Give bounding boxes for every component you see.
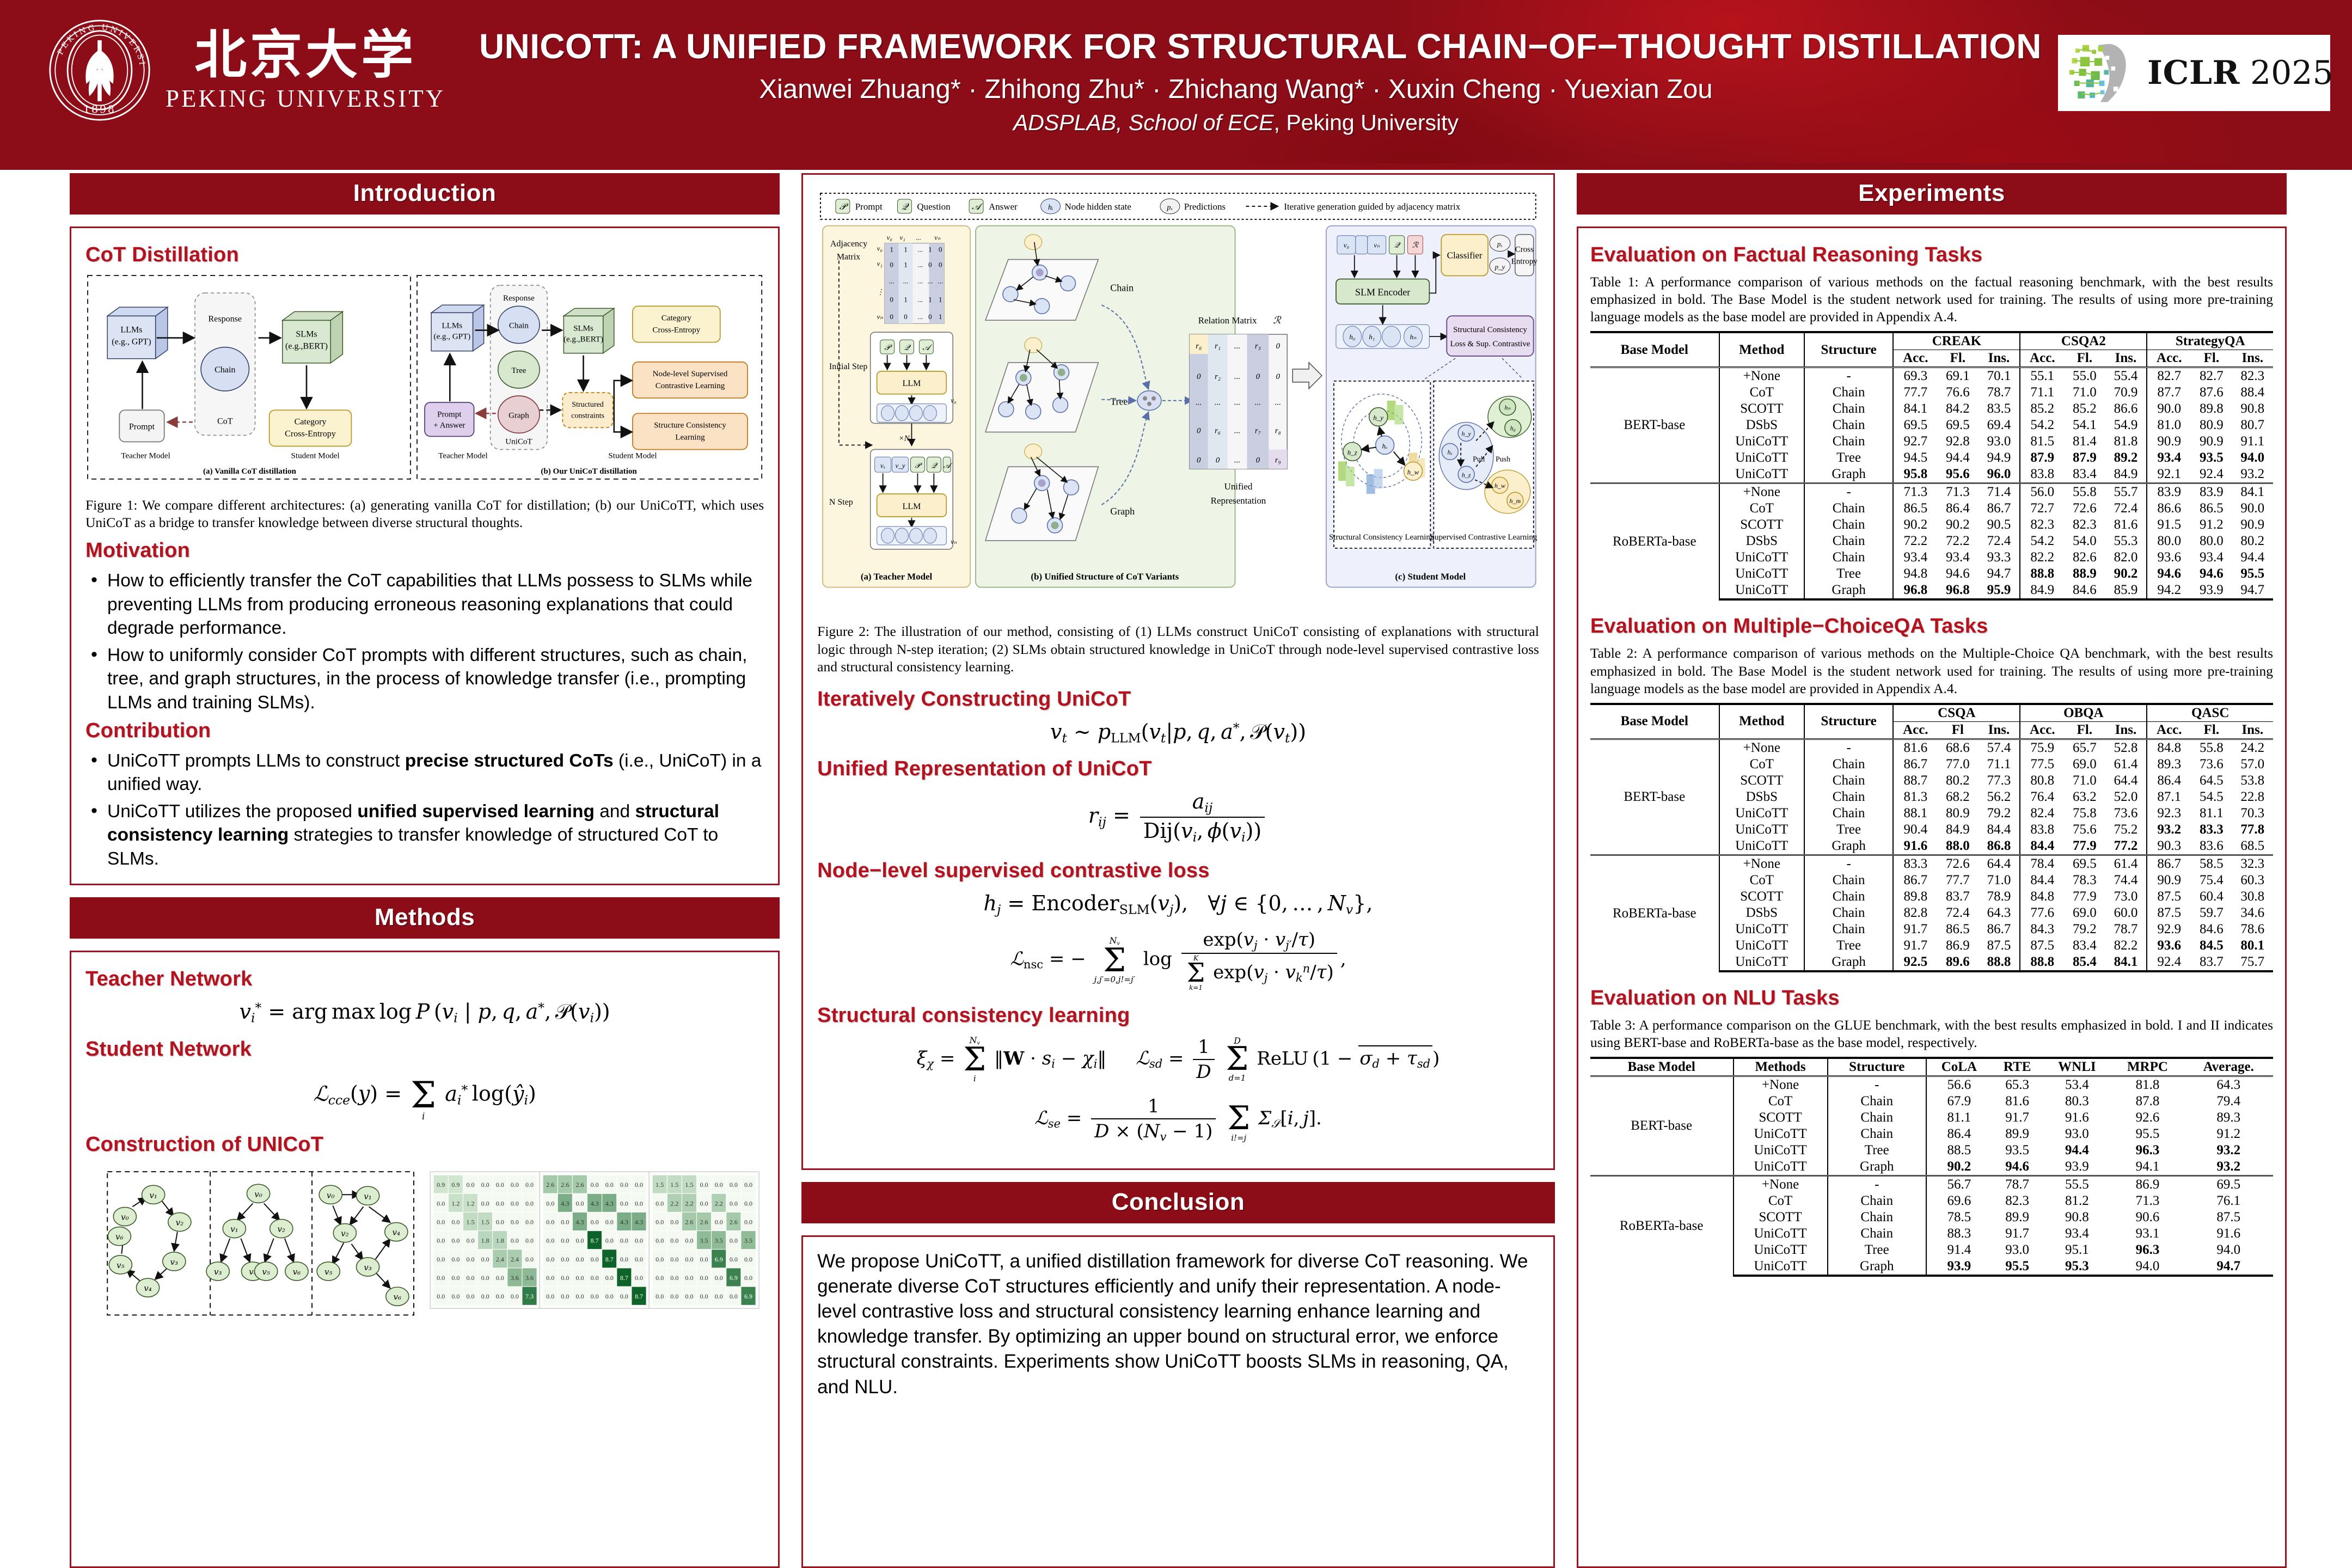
cell-value: 94.0 [2111, 1258, 2184, 1276]
cell-value: 82.6 [2064, 549, 2105, 566]
cell-value: 85.2 [2020, 401, 2064, 417]
cell-method: SCOTT [1719, 517, 1804, 533]
svg-text:Learning: Learning [675, 433, 705, 442]
cell-value: 93.4 [1937, 549, 1978, 566]
cell-method: SCOTT [1734, 1209, 1828, 1226]
figure-1-caption: Figure 1: We compare different architect… [85, 497, 764, 531]
svg-text:+ Answer: + Answer [433, 421, 465, 430]
cell-structure: Chain [1804, 789, 1894, 805]
cell-value: 92.5 [1893, 954, 1937, 971]
cell-value: 71.4 [1979, 483, 2020, 501]
cell-value: 72.2 [1937, 533, 1978, 549]
svg-text:0.0: 0.0 [451, 1274, 460, 1282]
cell-value: 55.4 [2105, 367, 2147, 385]
cell-method: CoT [1719, 384, 1804, 401]
cell-value: 92.1 [2147, 466, 2191, 483]
svg-text:Structural Consistency Learnin: Structural Consistency Learning [1329, 533, 1435, 542]
cell-value: 95.5 [2111, 1126, 2184, 1142]
cell-value: 57.0 [2232, 756, 2273, 773]
svg-text:0.0: 0.0 [525, 1237, 534, 1245]
col-structure: Structure [1804, 704, 1894, 739]
svg-text:v₃: v₃ [170, 1257, 179, 1267]
cell-method: CoT [1734, 1093, 1828, 1110]
svg-text:hᵢ: hᵢ [1048, 204, 1053, 212]
svg-text:h_m: h_m [1510, 497, 1521, 505]
col-method: Method [1719, 704, 1804, 739]
svg-text:1.5: 1.5 [670, 1181, 678, 1189]
cell-value: 71.1 [2020, 384, 2064, 401]
table-row: RoBERTa-base+None-71.371.371.456.055.855… [1590, 483, 2273, 501]
title-block: UNICOTT: A UNIFIED FRAMEWORK FOR STRUCTU… [479, 26, 1993, 136]
svg-text:4.3: 4.3 [561, 1200, 569, 1208]
svg-text:Question: Question [917, 201, 951, 212]
svg-text:N Step: N Step [829, 498, 853, 507]
svg-text:h_w: h_w [1494, 482, 1505, 489]
cell-value: 94.4 [1937, 450, 1978, 466]
cell-structure: Chain [1828, 1209, 1926, 1226]
cell-value: 88.9 [2064, 566, 2105, 582]
cell-structure: Graph [1828, 1159, 1926, 1176]
svg-text:0: 0 [1276, 372, 1281, 381]
cell-method: UniCoTT [1719, 549, 1804, 566]
svg-text:UniCoT: UniCoT [505, 438, 532, 446]
table-header-row: Base ModelMethodStructureCREAKCSQA2Strat… [1590, 332, 2273, 350]
cell-value: 56.2 [1979, 789, 2020, 805]
cell-value: 94.1 [2111, 1159, 2184, 1176]
cell-value: 96.0 [1979, 466, 2020, 483]
column-middle: 𝒫 Prompt 𝒬 Question 𝒜 Answer hᵢ Node hid… [801, 173, 1555, 1568]
cell-structure: Chain [1804, 549, 1894, 566]
svg-text:...: ... [938, 277, 944, 285]
svg-text:0: 0 [890, 295, 893, 303]
cell-value: 76.6 [1937, 384, 1978, 401]
svg-text:Graph: Graph [1110, 506, 1135, 517]
svg-text:2.6: 2.6 [700, 1218, 708, 1226]
svg-text:...: ... [1234, 399, 1240, 407]
cell-value: 69.6 [1926, 1193, 1992, 1209]
svg-text:(e.g.,BERT): (e.g.,BERT) [563, 335, 603, 344]
cell-value: 88.3 [1926, 1226, 1992, 1242]
col-header: WNLI [2043, 1058, 2111, 1076]
cell-value: 81.4 [2064, 433, 2105, 450]
svg-text:0.0: 0.0 [620, 1237, 628, 1245]
cell-value: 84.1 [2105, 954, 2147, 971]
col-group-csqa: CSQA [1893, 704, 2020, 722]
cell-value: 81.8 [2105, 433, 2147, 450]
svg-text:v₂: v₂ [278, 1224, 286, 1234]
cell-value: 76.4 [2020, 789, 2064, 805]
col-header: Structure [1828, 1058, 1926, 1076]
cell-value: 94.4 [2232, 549, 2273, 566]
cell-value: 88.0 [1937, 838, 1978, 855]
cell-structure: Chain [1804, 417, 1894, 433]
svg-text:h_y: h_y [1462, 430, 1472, 438]
svg-text:0.0: 0.0 [591, 1218, 599, 1226]
svg-text:...: ... [1215, 399, 1221, 407]
svg-text:0.0: 0.0 [670, 1218, 678, 1226]
cell-value: 83.4 [2064, 466, 2105, 483]
cell-value: 78.7 [2105, 921, 2147, 938]
cell-value: 90.3 [2147, 838, 2191, 855]
cell-value: 93.5 [2191, 450, 2232, 466]
col-metric: Acc. [1893, 350, 1937, 367]
cell-value: 93.6 [2147, 938, 2191, 954]
cell-method: CoT [1719, 872, 1804, 889]
svg-text:3.5: 3.5 [744, 1237, 752, 1245]
cell-structure: Chain [1804, 517, 1894, 533]
figure-2-caption: Figure 2: The illustration of our method… [817, 623, 1539, 675]
cell-method: DSbS [1719, 905, 1804, 921]
cell-value: 81.6 [2105, 517, 2147, 533]
heading-multiple-choice-qa: Evaluation on Multiple−ChoiceQA Tasks [1590, 615, 2273, 638]
formula-encoder: hj = EncoderSLM(vj), ∀j ∈ {0, … , Nv}, [817, 891, 1539, 917]
svg-text:0.0: 0.0 [561, 1218, 569, 1226]
cell-method: +None [1734, 1176, 1828, 1193]
cell-value: 71.3 [1893, 483, 1937, 501]
svg-text:0.0: 0.0 [575, 1274, 584, 1282]
svg-text:Node hidden state: Node hidden state [1065, 201, 1131, 212]
svg-text:0.0: 0.0 [685, 1274, 693, 1282]
cell-value: 94.6 [1937, 566, 1978, 582]
table-2-caption: Table 2: A performance comparison of var… [1590, 645, 2273, 697]
cell-value: 93.4 [1893, 549, 1937, 566]
cell-value: 89.2 [2105, 450, 2147, 466]
svg-text:h_z: h_z [1347, 448, 1357, 456]
col-metric: Acc. [2020, 350, 2064, 367]
svg-text:0.0: 0.0 [546, 1255, 554, 1263]
cell-value: 88.8 [1979, 954, 2020, 971]
svg-text:LLMs: LLMs [120, 326, 142, 335]
cell-value: 89.9 [1992, 1126, 2043, 1142]
col-metric: Fl. [2191, 721, 2232, 739]
svg-text:0.0: 0.0 [635, 1255, 643, 1263]
cell-value: 87.5 [1979, 938, 2020, 954]
cell-value: 83.7 [1937, 889, 1978, 905]
cell-value: 77.2 [2105, 838, 2147, 855]
svg-text:Prompt: Prompt [437, 410, 462, 419]
cell-value: 87.5 [2147, 889, 2191, 905]
svg-text:0.0: 0.0 [546, 1218, 554, 1226]
cell-value: 96.3 [2111, 1142, 2184, 1159]
cell-value: 81.6 [1893, 739, 1937, 756]
svg-text:Push: Push [1496, 455, 1510, 463]
svg-text:Pull: Pull [1473, 455, 1485, 463]
cell-value: 93.1 [2111, 1226, 2184, 1242]
heading-factual-reasoning: Evaluation on Factual Reasoning Tasks [1590, 243, 2273, 267]
figure-construction-unicot: v₀ v₁ v₂ v₃ v₄ v₅ v₆ [85, 1163, 764, 1327]
svg-text:0.0: 0.0 [730, 1293, 738, 1300]
svg-text:2.2: 2.2 [715, 1200, 723, 1208]
affiliation-institution: , Peking University [1274, 110, 1459, 135]
cell-value: 86.5 [1893, 500, 1937, 517]
cell-value: 64.5 [2191, 773, 2232, 789]
list-item: How to uniformly consider CoT prompts wi… [85, 644, 764, 715]
cell-value: 80.2 [2232, 533, 2273, 549]
svg-text:0.0: 0.0 [437, 1237, 445, 1245]
cell-value: 93.5 [1992, 1142, 2043, 1159]
svg-text:0.0: 0.0 [561, 1293, 569, 1300]
svg-text:0.0: 0.0 [466, 1255, 474, 1263]
cell-structure: Tree [1804, 566, 1894, 582]
svg-text:0.0: 0.0 [635, 1274, 643, 1282]
svg-text:0: 0 [1216, 456, 1220, 464]
svg-text:0.0: 0.0 [525, 1181, 534, 1189]
cell-value: 69.3 [1893, 367, 1937, 385]
cell-value: 87.5 [2020, 938, 2064, 954]
cell-method: DSbS [1719, 789, 1804, 805]
svg-text:v₆: v₆ [115, 1232, 124, 1242]
table-row: RoBERTa-base+None-83.372.664.478.469.561… [1590, 855, 2273, 872]
cell-structure: Chain [1828, 1226, 1926, 1242]
cell-value: 52.8 [2105, 739, 2147, 756]
cell-value: 58.5 [2191, 855, 2232, 872]
svg-text:v₅: v₅ [262, 1267, 270, 1277]
section-band-experiments: Experiments [1577, 173, 2287, 215]
svg-text:Category: Category [295, 417, 327, 426]
cell-value: 82.0 [2105, 549, 2147, 566]
cell-base-model: BERT-base [1590, 367, 1719, 483]
cell-value: 87.5 [2147, 905, 2191, 921]
cell-value: 94.8 [1893, 566, 1937, 582]
svg-text:0.0: 0.0 [591, 1255, 599, 1263]
svg-text:1.2: 1.2 [466, 1200, 474, 1208]
col-metric: Acc. [2020, 721, 2064, 739]
cell-value: 79.2 [1979, 805, 2020, 822]
cell-value: 92.4 [2147, 954, 2191, 971]
svg-text:0.0: 0.0 [496, 1274, 504, 1282]
cell-value: 94.9 [1979, 450, 2020, 466]
cell-value: 94.7 [2232, 582, 2273, 599]
svg-text:2.4: 2.4 [496, 1255, 504, 1263]
svg-text:1: 1 [939, 295, 942, 303]
svg-text:LLMs: LLMs [442, 321, 462, 330]
cell-value: 85.9 [2105, 582, 2147, 599]
cell-value: 91.7 [1992, 1110, 2043, 1126]
table-1: Base ModelMethodStructureCREAKCSQA2Strat… [1590, 331, 2273, 601]
cell-value: 89.3 [2184, 1110, 2273, 1126]
cell-method: +None [1734, 1076, 1828, 1094]
cell-value: 81.1 [2191, 805, 2232, 822]
cell-value: 69.4 [1979, 417, 2020, 433]
text: UniCoTT prompts LLMs to construct [107, 751, 405, 771]
svg-text:v₀: v₀ [121, 1212, 129, 1222]
iclr-brain-icon [2066, 40, 2137, 106]
svg-text:0.0: 0.0 [744, 1274, 752, 1282]
heading-contribution: Contribution [85, 719, 764, 743]
svg-text:1.5: 1.5 [481, 1218, 489, 1226]
cell-value: 86.7 [1979, 921, 2020, 938]
svg-text:4.3: 4.3 [605, 1200, 614, 1208]
cell-value: 93.9 [1926, 1258, 1992, 1276]
svg-text:7.3: 7.3 [525, 1293, 534, 1300]
svg-text:0.0: 0.0 [620, 1181, 628, 1189]
cell-value: 88.5 [1926, 1142, 1992, 1159]
cell-structure: Chain [1804, 889, 1894, 905]
svg-text:1.5: 1.5 [656, 1181, 664, 1189]
svg-text:0.0: 0.0 [496, 1200, 504, 1208]
cell-value: 91.4 [1926, 1242, 1992, 1258]
svg-text:constraints: constraints [571, 411, 604, 420]
iclr-badge: ICLR 2025 [2058, 35, 2330, 111]
cell-structure: Graph [1804, 954, 1894, 971]
cell-value: 69.5 [2184, 1176, 2273, 1193]
svg-text:1: 1 [904, 295, 907, 303]
cell-value: 92.3 [2147, 805, 2191, 822]
svg-text:...: ... [918, 246, 923, 254]
cell-value: 92.6 [2111, 1110, 2184, 1126]
cell-value: 91.2 [2184, 1126, 2273, 1142]
heading-student-network: Student Network [85, 1038, 764, 1061]
svg-text:0: 0 [1197, 427, 1201, 436]
svg-text:0.0: 0.0 [511, 1200, 519, 1208]
cell-structure: - [1804, 483, 1894, 501]
svg-text:6.9: 6.9 [744, 1293, 752, 1300]
heatmap-group: 0.90.90.00.00.00.00.00.01.21.20.00.00.00… [430, 1172, 759, 1308]
cell-method: UniCoTT [1719, 822, 1804, 838]
cell-value: 95.5 [2232, 566, 2273, 582]
svg-text:2.4: 2.4 [511, 1255, 519, 1263]
svg-text:(a) Teacher Model: (a) Teacher Model [861, 572, 933, 582]
svg-text:0.0: 0.0 [605, 1274, 614, 1282]
cell-value: 78.5 [1926, 1209, 1992, 1226]
svg-text:0: 0 [890, 261, 893, 269]
cell-value: 81.0 [2147, 417, 2191, 433]
svg-text:r₆: r₆ [1215, 427, 1221, 436]
cell-method: SCOTT [1719, 889, 1804, 905]
svg-text:Representation: Representation [1211, 495, 1266, 506]
cell-value: 92.9 [2147, 921, 2191, 938]
svg-text:...: ... [1234, 427, 1240, 436]
svg-text:Chain: Chain [215, 365, 235, 375]
svg-text:0.0: 0.0 [685, 1237, 693, 1245]
cell-method: CoT [1719, 500, 1804, 517]
svg-text:v₅: v₅ [324, 1267, 333, 1277]
cell-value: 90.5 [1979, 517, 2020, 533]
svg-text:...: ... [918, 277, 923, 285]
svg-text:Structure Consistency: Structure Consistency [654, 421, 726, 430]
svg-text:h₀: h₀ [1510, 425, 1516, 432]
cell-value: 72.7 [2020, 500, 2064, 517]
formula-iterative-construction: vt ~ pLLM(vt|p, q, a*, 𝒫(vt)) [817, 720, 1539, 746]
poster-body: Introduction CoT Distillation LLMs (e.g.… [0, 173, 2352, 1568]
svg-text:v₂: v₂ [341, 1229, 349, 1239]
svg-text:Student Model: Student Model [608, 452, 657, 461]
cell-value: 78.4 [2020, 855, 2064, 872]
svg-text:SLM Encoder: SLM Encoder [1355, 286, 1410, 297]
svg-text:0.0: 0.0 [591, 1274, 599, 1282]
cell-value: 92.7 [1893, 433, 1937, 450]
cell-structure: - [1804, 739, 1894, 756]
svg-text:...: ... [1234, 342, 1240, 351]
cell-value: 92.8 [1937, 433, 1978, 450]
svg-text:1.5: 1.5 [466, 1218, 474, 1226]
cell-value: 86.9 [1937, 938, 1978, 954]
cell-value: 77.6 [2020, 905, 2064, 921]
svg-text:Entropy: Entropy [1511, 258, 1538, 266]
cell-value: 86.7 [1893, 872, 1937, 889]
cell-base-model: BERT-base [1590, 1076, 1734, 1176]
cell-structure: Graph [1804, 838, 1894, 855]
cell-value: 92.4 [2191, 466, 2232, 483]
col-metric: Ins. [1979, 350, 2020, 367]
svg-text:h_z: h_z [1462, 471, 1471, 479]
svg-text:r₈: r₈ [1275, 427, 1281, 436]
cell-value: 72.4 [1979, 533, 2020, 549]
svg-text:4.3: 4.3 [591, 1200, 599, 1208]
svg-text:0.0: 0.0 [437, 1274, 445, 1282]
cell-base-model: BERT-base [1590, 739, 1719, 855]
cell-value: 24.2 [2232, 739, 2273, 756]
svg-text:v₄: v₄ [393, 1228, 401, 1238]
svg-text:3.6: 3.6 [525, 1274, 534, 1282]
cell-value: 78.7 [1979, 384, 2020, 401]
cell-value: 54.2 [2020, 417, 2064, 433]
formula-structural-consistency: ξχ = NvΣi ‖W · si − χi‖ ℒsd = 1D DΣd=1 R… [817, 1036, 1539, 1083]
svg-text:0.9: 0.9 [451, 1181, 460, 1189]
cell-value: 94.6 [1992, 1159, 2043, 1176]
cell-value: 80.9 [1937, 805, 1978, 822]
cell-value: 87.8 [2111, 1093, 2184, 1110]
cell-method: +None [1719, 483, 1804, 501]
svg-text:0.0: 0.0 [715, 1274, 723, 1282]
cell-value: 83.3 [2191, 822, 2232, 838]
svg-text:0.0: 0.0 [466, 1181, 474, 1189]
svg-text:h_w: h_w [1407, 468, 1419, 476]
text: UniCoTT utilizes the proposed [107, 801, 357, 822]
svg-text:1: 1 [928, 295, 932, 303]
svg-text:Relation Matrix: Relation Matrix [1198, 315, 1257, 326]
cell-value: 91.7 [1992, 1226, 2043, 1242]
cell-value: 83.9 [2191, 483, 2232, 501]
heading-cot-distillation: CoT Distillation [85, 243, 764, 267]
cell-value: 94.5 [1893, 450, 1937, 466]
svg-text:2.2: 2.2 [670, 1200, 678, 1208]
cell-value: 56.7 [1926, 1176, 1992, 1193]
svg-text:0: 0 [939, 246, 942, 254]
cell-value: 53.8 [2232, 773, 2273, 789]
svg-text:Initial Step: Initial Step [829, 362, 867, 371]
cell-value: 86.7 [2147, 855, 2191, 872]
svg-text:0: 0 [939, 261, 942, 269]
cell-structure: Tree [1828, 1242, 1926, 1258]
col-group-creak: CREAK [1893, 332, 2020, 350]
cell-value: 93.4 [2043, 1226, 2111, 1242]
cell-value: 93.2 [2184, 1142, 2273, 1159]
svg-text:...: ... [903, 277, 909, 285]
cell-value: 71.3 [1937, 483, 1978, 501]
cell-value: 86.8 [1979, 838, 2020, 855]
cell-value: 94.6 [2191, 566, 2232, 582]
table-1-caption: Table 1: A performance comparison of var… [1590, 273, 2273, 326]
svg-text:Cross-Entropy: Cross-Entropy [285, 429, 336, 438]
cell-structure: Graph [1828, 1258, 1926, 1276]
svg-text:8.7: 8.7 [605, 1255, 614, 1263]
cell-value: 86.9 [2111, 1176, 2184, 1193]
svg-text:0.0: 0.0 [575, 1293, 584, 1300]
cell-value: 95.5 [1992, 1258, 2043, 1276]
cell-value: 84.2 [1937, 401, 1978, 417]
cell-value: 72.6 [1937, 855, 1978, 872]
cell-structure: Graph [1804, 582, 1894, 599]
cell-method: +None [1719, 367, 1804, 385]
emphasis: precise structured CoTs [405, 751, 614, 771]
cell-value: 73.0 [2105, 889, 2147, 905]
svg-text:0.0: 0.0 [656, 1274, 664, 1282]
svg-text:hₙ: hₙ [1410, 333, 1417, 341]
cell-method: UniCoTT [1719, 450, 1804, 466]
svg-text:0.0: 0.0 [546, 1200, 554, 1208]
cell-value: 94.0 [2184, 1242, 2273, 1258]
